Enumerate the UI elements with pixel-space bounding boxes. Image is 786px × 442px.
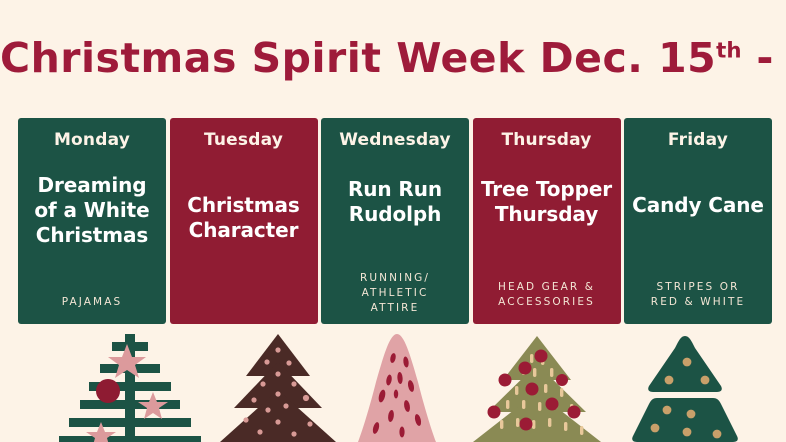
card-day-label: Thursday bbox=[501, 129, 591, 151]
card-day-label: Monday bbox=[54, 129, 130, 151]
card-dresscode-note: STRIPES OR RED & WHITE bbox=[630, 280, 766, 310]
day-card-wednesday[interactable]: Wednesday Run Run Rudolph RUNNING/ ATHLE… bbox=[321, 118, 469, 324]
card-theme-line: Rudolph bbox=[348, 202, 442, 227]
card-dresscode-note: RUNNING/ ATHLETIC ATTIRE bbox=[327, 271, 463, 316]
day-card-row: Monday Dreaming of a White Christmas PAJ… bbox=[18, 118, 772, 324]
card-dresscode-line: HEAD GEAR & bbox=[479, 280, 615, 295]
day-card-thursday[interactable]: Thursday Tree Topper Thursday HEAD GEAR … bbox=[473, 118, 621, 324]
card-theme-title: Christmas Character bbox=[185, 193, 301, 243]
card-theme-title: Run Run Rudolph bbox=[346, 177, 444, 227]
title-dash-text: - 19 bbox=[742, 34, 786, 82]
card-theme-line: Candy Cane bbox=[632, 193, 764, 218]
tree-ornament-circle bbox=[96, 379, 120, 403]
card-theme-line: Run Run bbox=[348, 177, 442, 202]
green-dotted-tree-icon bbox=[625, 334, 745, 442]
card-theme-title: Dreaming of a White Christmas bbox=[32, 173, 151, 248]
card-day-label: Wednesday bbox=[339, 129, 451, 151]
card-dresscode-line: PAJAMAS bbox=[24, 295, 160, 310]
brown-dotted-tree-icon bbox=[218, 332, 338, 442]
card-theme-line: of a White bbox=[34, 198, 149, 223]
line-bar-tree-icon bbox=[55, 330, 205, 442]
card-dresscode-note: PAJAMAS bbox=[24, 295, 160, 310]
card-theme-line: Christmas bbox=[187, 193, 299, 218]
card-day-label: Friday bbox=[668, 129, 728, 151]
card-theme-line: Christmas bbox=[34, 223, 149, 248]
olive-needle-tree-icon bbox=[470, 330, 605, 442]
day-card-friday[interactable]: Friday Candy Cane STRIPES OR RED & WHITE bbox=[624, 118, 772, 324]
card-day-label: Tuesday bbox=[204, 129, 283, 151]
card-theme-line: Thursday bbox=[481, 202, 612, 227]
page-title: Christmas Spirit Week Dec. 15th - 19th bbox=[0, 34, 786, 82]
card-dresscode-line: ACCESSORIES bbox=[479, 295, 615, 310]
poster-canvas: Christmas Spirit Week Dec. 15th - 19th M… bbox=[0, 0, 786, 442]
card-dresscode-line: ATTIRE bbox=[327, 301, 463, 316]
card-theme-line: Tree Topper bbox=[481, 177, 612, 202]
title-main-text: Christmas Spirit Week Dec. 15 bbox=[0, 34, 716, 82]
card-dresscode-line: STRIPES OR bbox=[630, 280, 766, 295]
title-superscript-15th: th bbox=[716, 38, 741, 63]
card-dresscode-note: HEAD GEAR & ACCESSORIES bbox=[479, 280, 615, 310]
day-card-monday[interactable]: Monday Dreaming of a White Christmas PAJ… bbox=[18, 118, 166, 324]
card-dresscode-line: RED & WHITE bbox=[630, 295, 766, 310]
day-card-tuesday[interactable]: Tuesday Christmas Character bbox=[170, 118, 318, 324]
tree-decoration-band bbox=[0, 330, 786, 442]
card-dresscode-line: RUNNING/ bbox=[327, 271, 463, 286]
card-theme-line: Dreaming bbox=[34, 173, 149, 198]
card-theme-line: Character bbox=[187, 218, 299, 243]
card-theme-title: Candy Cane bbox=[630, 193, 766, 218]
pink-cone-tree-icon bbox=[352, 332, 442, 442]
card-theme-title: Tree Topper Thursday bbox=[479, 177, 614, 227]
card-dresscode-line: ATHLETIC bbox=[327, 286, 463, 301]
